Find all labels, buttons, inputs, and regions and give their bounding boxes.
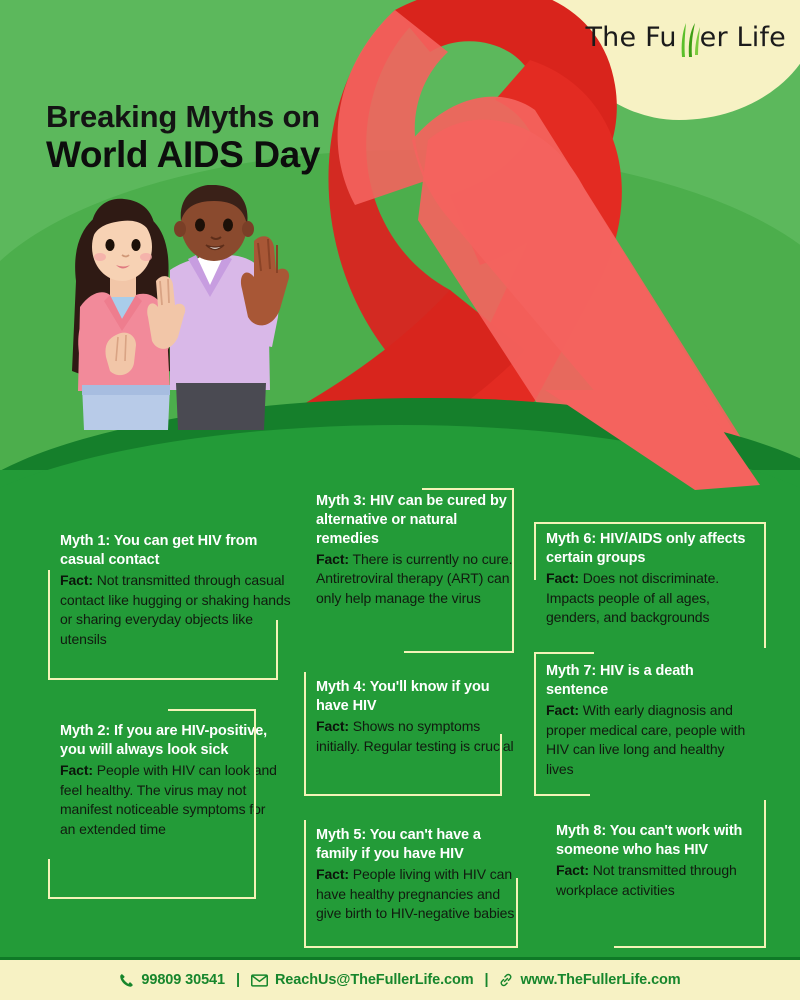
myth-2-fact-label: Fact: [60,762,93,778]
footer-contact-line: 99809 30541 | ReachUs@TheFullerLife.com … [119,972,680,988]
two-people-waving-illustration [58,185,298,430]
infographic-poster: The Fu er Life Breaking Myths on World A… [0,0,800,1000]
myth-3-title: Myth 3: HIV can be cured by alternative … [316,492,516,549]
myth-card-3[interactable]: Myth 3: HIV can be cured by alternative … [316,492,516,609]
footer-separator-1: | [236,972,240,988]
woman-figure [72,199,185,430]
myth-2-fact-text: People with HIV can look and feel health… [60,762,277,838]
myth-card-7[interactable]: Myth 7: HIV is a death sentence Fact: Wi… [546,662,754,780]
myth-2-fact: Fact: People with HIV can look and feel … [60,761,282,841]
myth-card-5[interactable]: Myth 5: You can't have a family if you h… [316,826,520,924]
myth-4-fact: Fact: Shows no symptoms initially. Regul… [316,717,516,757]
myth-7-fact: Fact: With early diagnosis and proper me… [546,701,754,781]
title-line-1: Breaking Myths on [46,100,320,133]
envelope-icon [251,974,268,987]
footer-phone[interactable]: 99809 30541 [141,972,225,988]
myth-4-title: Myth 4: You'll know if you have HIV [316,678,516,716]
myth-card-6[interactable]: Myth 6: HIV/AIDS only affects certain gr… [546,530,756,628]
logo-text-part2: er Life [700,22,786,53]
myth-2-title: Myth 2: If you are HIV-positive, you wil… [60,722,282,760]
footer-email[interactable]: ReachUs@TheFullerLife.com [275,972,474,988]
myth-6-fact-label: Fact: [546,570,579,586]
myth-6-title: Myth 6: HIV/AIDS only affects certain gr… [546,530,756,568]
myth-5-fact: Fact: People living with HIV can have he… [316,865,520,925]
myth-card-2[interactable]: Myth 2: If you are HIV-positive, you wil… [60,722,282,840]
logo-text-part1: The Fu [585,22,676,53]
brand-logo: The Fu er Life [585,22,786,53]
myth-1-title: Myth 1: You can get HIV from casual cont… [60,532,292,570]
myth-7-fact-label: Fact: [546,702,579,718]
footer-separator-2: | [485,972,489,988]
footer-website[interactable]: www.TheFullerLife.com [520,972,680,988]
ribbon-tail-tip [545,390,800,520]
myth-4-fact-label: Fact: [316,718,349,734]
myth-3-fact: Fact: There is currently no cure. Antire… [316,550,516,610]
page-title: Breaking Myths on World AIDS Day [46,100,320,175]
myth-8-title: Myth 8: You can't work with someone who … [556,822,764,860]
myth-1-fact: Fact: Not transmitted through casual con… [60,571,292,651]
myth-7-title: Myth 7: HIV is a death sentence [546,662,754,700]
myth-card-1[interactable]: Myth 1: You can get HIV from casual cont… [60,532,292,650]
myth-5-fact-label: Fact: [316,866,349,882]
myth-6-fact: Fact: Does not discriminate. Impacts peo… [546,569,756,629]
myth-card-8[interactable]: Myth 8: You can't work with someone who … [556,822,764,900]
myth-5-title: Myth 5: You can't have a family if you h… [316,826,520,864]
myth-3-fact-label: Fact: [316,551,349,567]
myth-8-fact-label: Fact: [556,862,589,878]
myth-1-fact-label: Fact: [60,572,93,588]
footer-contact-bar: 99809 30541 | ReachUs@TheFullerLife.com … [0,957,800,1000]
myth-1-fact-text: Not transmitted through casual contact l… [60,572,291,648]
grass-blades-icon [677,23,700,53]
link-icon [499,973,513,987]
myth-8-fact: Fact: Not transmitted through workplace … [556,861,764,901]
man-waving-hand [241,236,289,325]
title-line-2: World AIDS Day [46,135,320,175]
phone-icon [119,973,134,988]
myth-card-4[interactable]: Myth 4: You'll know if you have HIV Fact… [316,678,516,756]
